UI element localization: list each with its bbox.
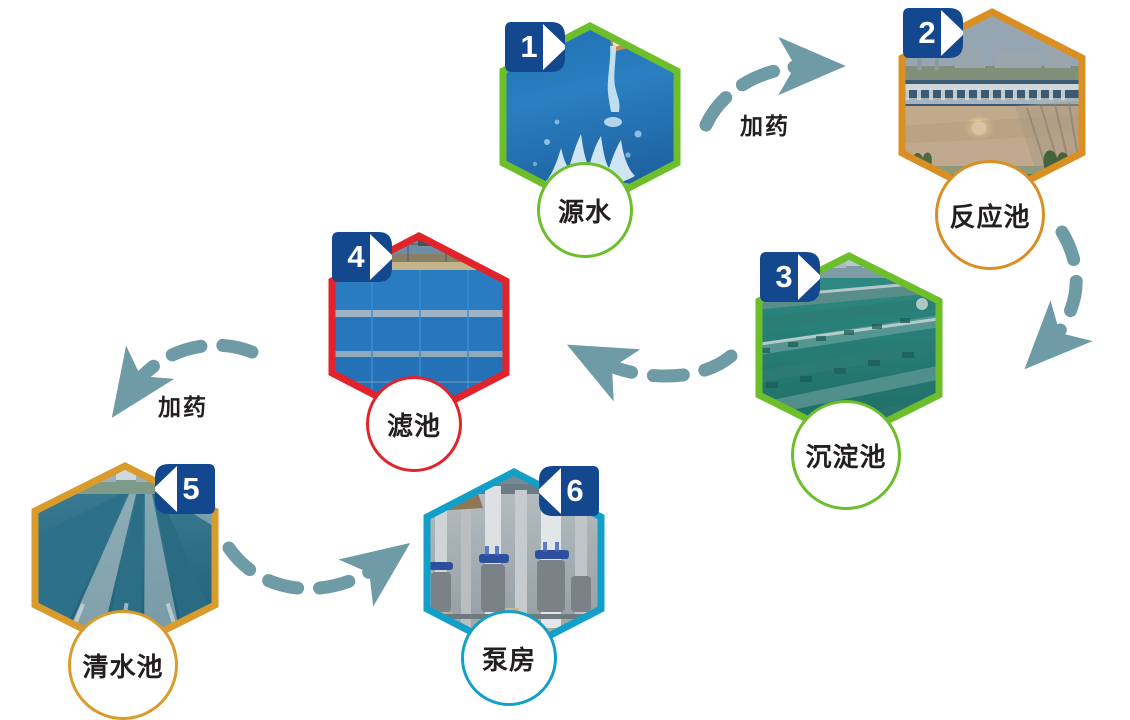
step-3-label-text: 沉淀池 (805, 437, 886, 474)
step-6-badge: 6 (539, 464, 601, 518)
arrow-5-to-6 (229, 548, 383, 589)
step-5-label-text: 清水池 (82, 647, 163, 684)
step-3-label[interactable]: 沉淀池 (791, 400, 901, 510)
step-4-badge: 4 (330, 230, 392, 284)
step-6-number: 6 (539, 464, 601, 518)
step-3-number: 3 (758, 250, 820, 304)
step-5-number: 5 (155, 462, 217, 516)
process-step-1[interactable]: 1 源水 (495, 22, 685, 272)
process-step-2[interactable]: 2 反应池 (895, 8, 1090, 268)
step-2-number: 2 (901, 6, 963, 60)
step-1-number: 1 (503, 20, 565, 74)
arrow-label-dosing-1: 加药 (740, 107, 790, 141)
arrow-3-to-4 (597, 356, 731, 376)
step-5-label[interactable]: 清水池 (68, 610, 178, 720)
step-1-label[interactable]: 源水 (537, 162, 633, 258)
process-step-3[interactable]: 3 沉淀池 (752, 252, 947, 504)
step-3-badge: 3 (758, 250, 820, 304)
step-1-badge: 1 (503, 20, 565, 74)
arrow-4-to-5 (131, 345, 252, 390)
process-step-4[interactable]: 4 滤池 (324, 232, 514, 482)
process-step-5[interactable]: 5 清水池 (28, 462, 223, 712)
step-4-label[interactable]: 滤池 (366, 376, 462, 472)
arrow-label-dosing-2: 加药 (158, 388, 208, 422)
step-2-label-text: 反应池 (949, 197, 1030, 234)
process-step-6[interactable]: 6 泵房 (419, 468, 609, 714)
step-1-label-text: 源水 (558, 192, 612, 229)
step-5-badge: 5 (155, 462, 217, 516)
step-2-badge: 2 (901, 6, 963, 60)
step-6-label-text: 泵房 (482, 640, 536, 677)
step-6-label[interactable]: 泵房 (461, 610, 557, 706)
process-flow-diagram: 加药 加药 (0, 0, 1130, 714)
step-4-label-text: 滤池 (387, 406, 441, 443)
step-2-label[interactable]: 反应池 (935, 160, 1045, 270)
step-4-number: 4 (330, 230, 392, 284)
